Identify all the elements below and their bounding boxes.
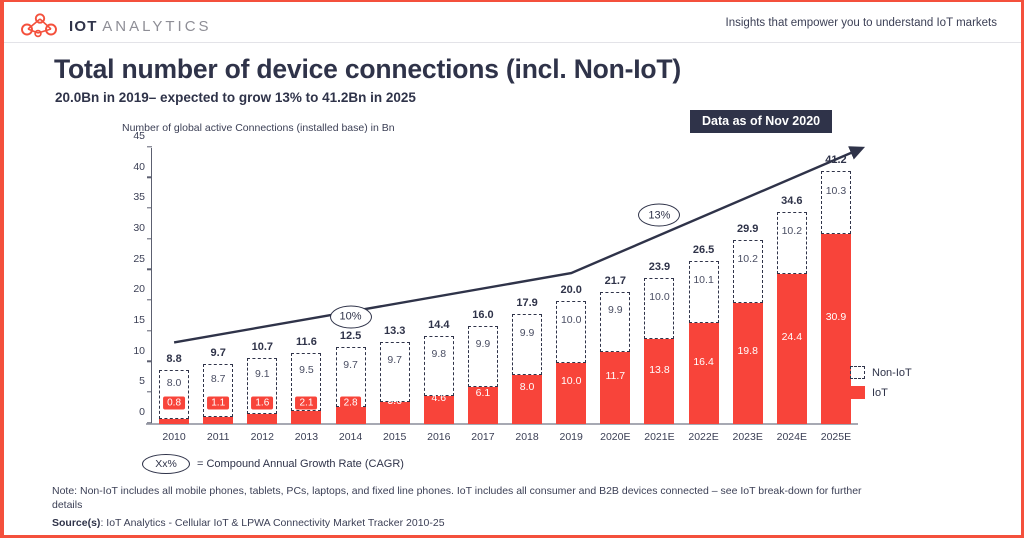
slide-frame: IOT ANALYTICS Insights that empower you … [0,0,1024,538]
bar-group[interactable]: 11.69.52.12013 [291,353,321,424]
x-axis-tick-label: 2014 [339,431,362,443]
bar-total-label: 29.9 [737,223,758,235]
source-text: : IoT Analytics - Cellular IoT & LPWA Co… [100,517,444,529]
y-axis-tick-mark [147,177,152,178]
y-axis-tick-mark [147,391,152,392]
y-axis-tick-mark [147,361,152,362]
y-axis-tick-label: 0 [112,406,152,418]
y-axis-tick-label: 15 [112,314,152,326]
source-label: Source(s) [52,517,100,529]
bar-segment-non-iot[interactable] [600,292,630,353]
bar-value-label-non-iot: 10.1 [693,274,713,286]
brand-wordmark: IOT ANALYTICS [69,19,212,34]
bar-segment-non-iot[interactable] [821,171,851,234]
bar-value-label-non-iot: 10.2 [782,225,802,237]
bar-segment-iot[interactable] [247,414,277,424]
bar-group[interactable]: 20.010.010.02019 [556,301,586,424]
bar-value-label-iot: 30.9 [826,311,846,323]
header-tagline: Insights that empower you to understand … [726,17,997,29]
bar-value-label-non-iot: 10.2 [737,253,757,265]
bar-total-label: 16.0 [472,309,493,321]
bar-value-label-iot: 2.1 [295,397,317,410]
brand-logo[interactable]: IOT ANALYTICS [18,12,212,40]
bar-value-label-non-iot: 9.1 [255,368,270,380]
bar-value-label-iot: 19.8 [737,345,757,357]
y-axis-tick-label: 5 [112,375,152,387]
bar-group[interactable]: 14.49.84.62016 [424,336,454,424]
y-axis-tick-mark [147,238,152,239]
bar-total-label: 21.7 [605,275,626,287]
x-axis-tick-label: 2025E [821,431,851,443]
bar-value-label-non-iot: 8.0 [167,377,182,389]
x-axis-tick-label: 2024E [777,431,807,443]
x-axis-tick-label: 2021E [644,431,674,443]
bar-segment-iot[interactable] [556,363,586,424]
y-axis-tick-label: 40 [112,161,152,173]
y-axis-tick-label: 35 [112,191,152,203]
bar-value-label-non-iot: 10.3 [826,185,846,197]
x-axis-tick-label: 2018 [515,431,538,443]
bar-group[interactable]: 17.99.98.02018 [512,314,542,424]
bar-segment-non-iot[interactable] [733,240,763,303]
y-axis-tick-mark [147,299,152,300]
status-badge: Data as of Nov 2020 [690,110,832,133]
bar-value-label-iot: 16.4 [693,356,713,368]
bar-segment-iot[interactable] [159,419,189,424]
bar-group[interactable]: 8.88.00.82010 [159,370,189,424]
y-axis-tick-mark [147,269,152,270]
x-axis-tick-label: 2019 [560,431,583,443]
x-axis-tick-label: 2017 [471,431,494,443]
bar-segment-non-iot[interactable] [424,336,454,396]
bar-segment-non-iot[interactable] [644,278,674,339]
bar-value-label-non-iot: 9.7 [387,354,402,366]
bar-value-label-iot: 13.8 [649,364,669,376]
header-divider [4,42,1021,43]
x-axis-tick-label: 2016 [427,431,450,443]
bar-value-label-non-iot: 9.9 [608,304,623,316]
x-axis-tick-label: 2023E [733,431,763,443]
bar-value-label-non-iot: 8.7 [211,373,226,385]
cagr-annotation: 13% [638,204,680,227]
bar-group[interactable]: 41.210.330.92025E [821,171,851,424]
page-subtitle: 20.0Bn in 2019– expected to grow 13% to … [55,90,416,105]
bar-value-label-non-iot: 9.7 [343,359,358,371]
bar-group[interactable]: 9.78.71.12011 [203,365,233,424]
footnote-note: Note: Non-IoT includes all mobile phones… [52,484,882,512]
bar-total-label: 14.4 [428,319,449,331]
bar-group[interactable]: 10.79.11.62012 [247,358,277,424]
non-iot-swatch-icon [850,366,865,379]
footnote-source: Source(s): IoT Analytics - Cellular IoT … [52,517,445,529]
bar-value-label-iot: 1.1 [207,397,229,410]
bar-total-label: 12.5 [340,330,361,342]
bar-total-label: 17.9 [516,297,537,309]
bar-value-label-non-iot: 9.5 [299,364,314,376]
bar-group[interactable]: 13.39.73.62015 [380,342,410,424]
network-nodes-icon [18,12,60,40]
bar-value-label-iot: 6.1 [476,387,491,399]
bar-group[interactable]: 34.610.224.42024E [777,212,807,424]
x-axis-tick-label: 2013 [295,431,318,443]
bar-segment-iot[interactable] [291,411,321,424]
x-axis-tick-label: 2010 [162,431,185,443]
bar-value-label-iot: 11.7 [605,370,625,382]
logo-light-text: ANALYTICS [102,18,211,35]
bar-value-label-iot: 3.6 [387,395,402,407]
bar-segment-iot[interactable] [644,339,674,424]
bar-segment-iot[interactable] [733,303,763,424]
legend-item-non-iot[interactable]: Non-IoT [850,366,912,379]
bar-total-label: 9.7 [211,347,226,359]
bar-segment-non-iot[interactable] [512,314,542,375]
y-axis-title: Number of global active Connections (ins… [122,122,395,134]
page-title: Total number of device connections (incl… [54,54,681,85]
bar-total-label: 41.2 [825,154,846,166]
iot-swatch-icon [850,386,865,399]
y-axis-tick-label: 25 [112,253,152,265]
bar-value-label-non-iot: 9.8 [432,348,447,360]
y-axis-tick-mark [147,330,152,331]
legend-item-iot[interactable]: IoT [850,386,912,399]
bar-total-label: 20.0 [560,284,581,296]
cagr-key-bubble: Xx% [142,454,190,474]
bar-value-label-iot: 0.8 [163,397,185,410]
bar-total-label: 8.8 [166,353,181,365]
bar-value-label-iot: 2.8 [340,397,362,410]
bar-segment-non-iot[interactable] [689,261,719,323]
y-axis-tick-label: 20 [112,283,152,295]
bar-total-label: 34.6 [781,195,802,207]
bar-total-label: 13.3 [384,325,405,337]
bar-group[interactable]: 23.910.013.82021E [644,277,674,424]
bar-segment-iot[interactable] [203,417,233,424]
x-axis-tick-label: 2015 [383,431,406,443]
y-axis-tick-mark [147,207,152,208]
bar-segment-non-iot[interactable] [380,342,410,401]
bar-segment-iot[interactable] [821,234,851,424]
bar-total-label: 11.6 [296,336,317,348]
bar-value-label-non-iot: 9.9 [476,338,491,350]
bar-total-label: 23.9 [649,261,670,273]
bar-total-label: 10.7 [252,341,273,353]
y-axis-tick-mark [147,146,152,147]
bar-value-label-non-iot: 10.0 [561,314,581,326]
cagr-key: Xx% = Compound Annual Growth Rate (CAGR) [142,454,404,474]
bar-segment-non-iot[interactable] [777,212,807,275]
x-axis-tick-label: 2022E [688,431,718,443]
bar-group[interactable]: 16.09.96.12017 [468,326,498,424]
chart-plot-area: 0510152025303540458.88.00.820109.78.71.1… [152,148,858,424]
logo-bold-text: IOT [69,18,98,35]
x-axis-tick-label: 2020E [600,431,630,443]
bar-segment-iot[interactable] [777,274,807,424]
y-axis-tick-label: 10 [112,345,152,357]
y-axis-tick-label: 30 [112,222,152,234]
bar-segment-non-iot[interactable] [468,326,498,387]
bar-value-label-iot: 1.6 [251,397,273,410]
cagr-annotation: 10% [330,305,372,328]
chart-legend: Non-IoT IoT [850,366,912,406]
bar-total-label: 26.5 [693,244,714,256]
bar-group[interactable]: 12.59.72.82014 [336,347,366,424]
bar-value-label-iot: 4.6 [432,392,447,404]
y-axis-tick-label: 45 [112,130,152,142]
x-axis-tick-label: 2011 [207,431,230,443]
bar-group[interactable]: 29.910.219.82023E [733,241,763,424]
bar-segment-iot[interactable] [689,323,719,424]
legend-label-iot: IoT [872,387,888,399]
cagr-key-text: = Compound Annual Growth Rate (CAGR) [197,458,404,470]
x-axis-tick-label: 2012 [251,431,274,443]
bar-value-label-non-iot: 10.0 [649,291,669,303]
bar-segment-iot[interactable] [600,352,630,424]
legend-label-non-iot: Non-IoT [872,367,912,379]
bar-value-label-iot: 8.0 [520,381,535,393]
y-axis-tick-mark [147,422,152,423]
bar-segment-non-iot[interactable] [556,301,586,362]
bar-group[interactable]: 21.79.911.72020E [600,291,630,424]
bar-group[interactable]: 26.510.116.42022E [689,261,719,424]
page-header: IOT ANALYTICS Insights that empower you … [4,2,1021,42]
bar-value-label-iot: 10.0 [561,375,581,387]
bar-value-label-iot: 24.4 [782,331,802,343]
bar-value-label-non-iot: 9.9 [520,327,535,339]
